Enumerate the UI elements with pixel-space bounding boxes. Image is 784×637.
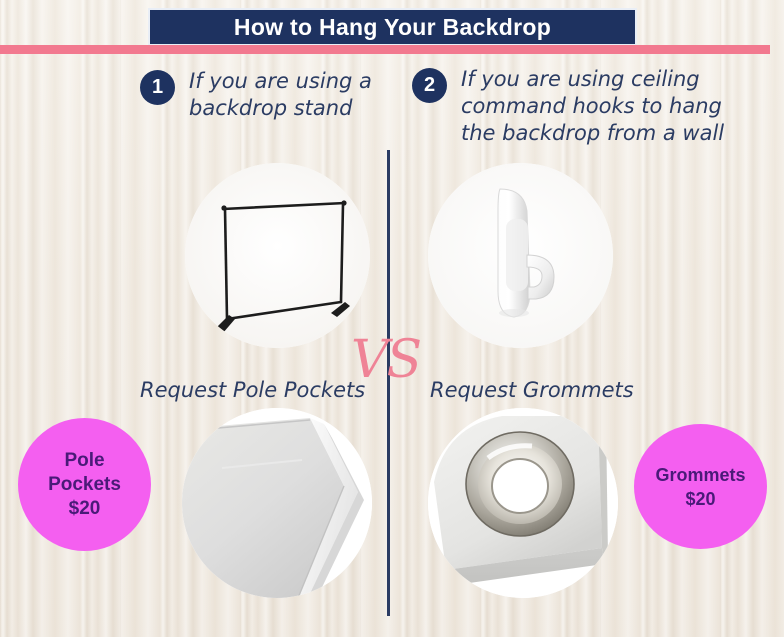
page-title: How to Hang Your Backdrop — [234, 14, 551, 41]
grommet-photo — [428, 408, 618, 598]
pink-divider-rule — [0, 45, 770, 54]
title-banner: How to Hang Your Backdrop — [148, 8, 637, 46]
badge-grommet-price: $20 — [685, 487, 715, 511]
step-2-number-badge: 2 — [412, 68, 447, 103]
step-2-header: 2 If you are using ceiling command hooks… — [412, 66, 746, 147]
step-2-text: If you are using ceiling command hooks t… — [461, 66, 746, 147]
step-1-header: 1 If you are using a backdrop stand — [140, 68, 389, 122]
step-1-text: If you are using a backdrop stand — [189, 68, 389, 122]
caption-pole-pockets: Request Pole Pockets — [140, 378, 365, 402]
versus-label: VS — [351, 330, 420, 390]
price-badge-grommets: Grommets $20 — [634, 424, 767, 549]
badge-pole-price: $20 — [69, 497, 101, 521]
price-badge-pole-pockets: Pole Pockets $20 — [18, 418, 151, 551]
badge-grommet-line1: Grommets — [655, 463, 745, 487]
command-hook-photo — [428, 163, 613, 348]
backdrop-stand-photo — [185, 163, 370, 348]
badge-pole-line1: Pole — [64, 449, 104, 473]
badge-pole-line2: Pockets — [48, 473, 121, 497]
infographic-canvas: How to Hang Your Backdrop 1 If you are u… — [0, 0, 784, 637]
step-1-number-badge: 1 — [140, 70, 175, 105]
caption-grommets: Request Grommets — [430, 378, 634, 402]
pole-pocket-fabric-photo — [182, 408, 372, 598]
